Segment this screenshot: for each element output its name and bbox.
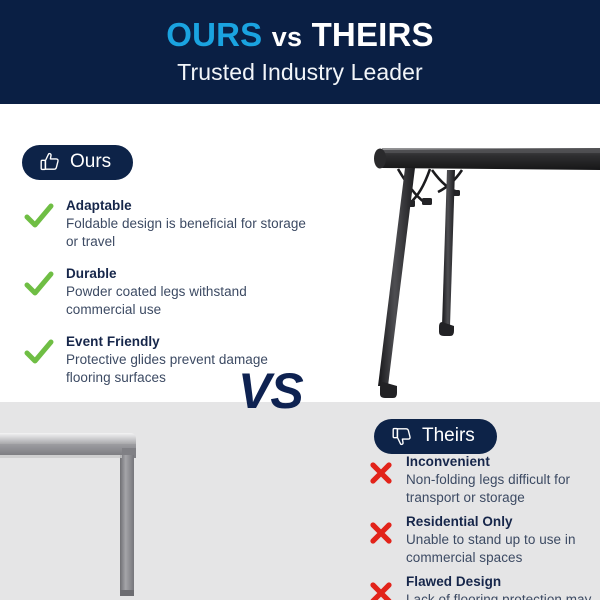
list-item: Durable Powder coated legs withstand com… (22, 264, 312, 318)
list-item: Adaptable Foldable design is beneficial … (22, 196, 312, 250)
vs-divider-label: VS (238, 366, 303, 416)
check-icon (22, 200, 56, 234)
badge-theirs-label: Theirs (422, 425, 475, 447)
feature-title: Flawed Design (406, 574, 501, 589)
badge-ours[interactable]: Ours (22, 145, 133, 180)
feature-title: Adaptable (66, 198, 132, 213)
page-title: OURS vs THEIRS (166, 18, 434, 53)
list-item: Residential Only Unable to stand up to u… (366, 512, 600, 566)
feature-title: Event Friendly (66, 334, 160, 349)
product-image-ours-folding-table (350, 140, 600, 400)
feature-desc: Non-folding legs difficult for transport… (406, 471, 600, 506)
feature-desc: Foldable design is beneficial for storag… (66, 215, 312, 250)
check-icon (22, 268, 56, 302)
feature-title: Residential Only (406, 514, 513, 529)
cross-icon (366, 578, 396, 600)
feature-desc: Unable to stand up to use in commercial … (406, 531, 600, 566)
feature-list-theirs: Inconvenient Non-folding legs difficult … (366, 452, 600, 600)
badge-ours-label: Ours (70, 151, 111, 173)
list-item: Flawed Design Lack of flooring protectio… (366, 572, 600, 600)
feature-desc: Powder coated legs withstand commercial … (66, 283, 312, 318)
badge-theirs[interactable]: Theirs (374, 419, 497, 454)
title-theirs: THEIRS (312, 16, 434, 53)
cross-icon (366, 458, 396, 488)
header-subtitle: Trusted Industry Leader (177, 59, 423, 86)
feature-title: Durable (66, 266, 117, 281)
title-vs: vs (272, 22, 302, 52)
title-ours: OURS (166, 16, 262, 53)
feature-title: Inconvenient (406, 454, 490, 469)
list-item: Inconvenient Non-folding legs difficult … (366, 452, 600, 506)
thumbs-down-icon (391, 425, 413, 447)
check-icon (22, 336, 56, 370)
feature-desc: Lack of flooring protection may cause fl… (406, 591, 600, 600)
comparison-infographic: OURS vs THEIRS Trusted Industry Leader (0, 0, 600, 600)
header-banner: OURS vs THEIRS Trusted Industry Leader (0, 0, 600, 104)
product-image-theirs-fixed-table (0, 424, 170, 600)
thumbs-up-icon (39, 151, 61, 173)
cross-icon (366, 518, 396, 548)
